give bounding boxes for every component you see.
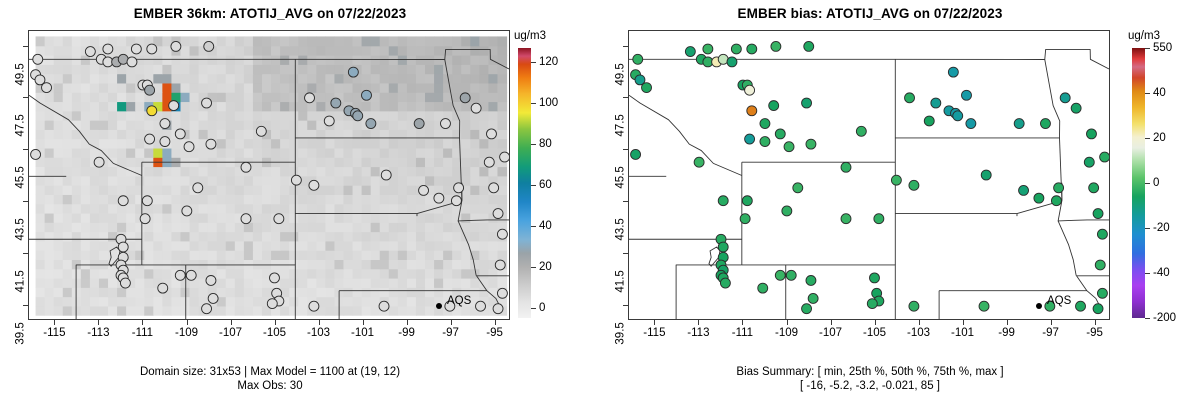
colorbar-tick: [1145, 138, 1150, 139]
colorbar-tick: [531, 62, 536, 63]
observation-marker[interactable]: [742, 196, 752, 206]
colorbar-tick: [1145, 228, 1150, 229]
observation-marker[interactable]: [747, 106, 757, 116]
observation-marker[interactable]: [869, 273, 879, 283]
observation-marker[interactable]: [966, 119, 976, 129]
observation-marker[interactable]: [160, 137, 170, 147]
colorbar-unit-label: ug/m3: [1128, 30, 1160, 42]
observation-marker[interactable]: [841, 162, 851, 172]
x-tick: [54, 320, 55, 325]
x-tick: [787, 320, 788, 325]
observation-marker[interactable]: [31, 149, 41, 159]
observation-marker[interactable]: [1095, 260, 1105, 270]
x-tick-label: -109: [175, 327, 198, 339]
colorbar-tick: [531, 267, 536, 268]
observation-marker[interactable]: [145, 85, 155, 95]
colorbar-tick-label: -20: [1153, 222, 1170, 234]
colorbar-tick-label: 20: [539, 261, 552, 273]
observation-marker[interactable]: [909, 301, 919, 311]
observation-marker[interactable]: [1084, 157, 1094, 167]
colorbar-tick-label: 40: [1153, 87, 1166, 99]
observation-marker[interactable]: [1051, 196, 1061, 206]
y-tick: [23, 253, 28, 254]
observation-marker[interactable]: [633, 54, 643, 64]
aqs-legend-dot: [1036, 303, 1042, 309]
observation-marker[interactable]: [493, 209, 503, 219]
x-tick-label: -103: [307, 327, 330, 339]
observation-marker[interactable]: [353, 111, 363, 121]
colorbar-tick-label: 120: [539, 56, 558, 68]
x-tick: [407, 320, 408, 325]
state-borders: [629, 49, 1109, 319]
observation-marker[interactable]: [1089, 183, 1099, 193]
colorbar-tick-label: -40: [1153, 267, 1170, 279]
x-tick-label: -101: [951, 327, 974, 339]
observation-marker[interactable]: [497, 288, 507, 298]
colorbar-tick: [531, 185, 536, 186]
y-tick-label: 47.5: [614, 114, 626, 136]
map-frame-bias: AQS: [628, 30, 1110, 320]
y-tick: [23, 97, 28, 98]
colorbar-tick: [531, 308, 536, 309]
observation-marker[interactable]: [495, 260, 505, 270]
observation-marker[interactable]: [1100, 152, 1109, 162]
observation-marker[interactable]: [241, 214, 251, 224]
y-tick: [623, 46, 628, 47]
observation-marker[interactable]: [184, 142, 194, 152]
observation-marker[interactable]: [434, 193, 444, 203]
observation-marker[interactable]: [274, 214, 284, 224]
panel-bias: EMBER bias: ATOTIJ_AVG on 07/22/2023AQS-…: [600, 0, 1200, 409]
x-tick: [451, 320, 452, 325]
observation-marker[interactable]: [147, 106, 157, 116]
colorbar-tick-label: 80: [539, 138, 552, 150]
caption-line-1-bias: Bias Summary: [ min, 25th %, 50th %, 75t…: [600, 365, 1140, 379]
observation-marker[interactable]: [745, 134, 755, 144]
observation-marker[interactable]: [118, 196, 128, 206]
observation-marker[interactable]: [362, 90, 372, 100]
observation-marker[interactable]: [1093, 209, 1103, 219]
y-tick: [23, 201, 28, 202]
observation-markers[interactable]: [631, 41, 1109, 313]
observation-marker[interactable]: [120, 278, 130, 288]
x-tick: [231, 320, 232, 325]
observation-marker[interactable]: [476, 301, 486, 311]
x-tick-label: -111: [732, 327, 753, 339]
x-tick: [98, 320, 99, 325]
y-tick-label: 43.5: [614, 218, 626, 240]
observation-marker[interactable]: [891, 175, 901, 185]
x-tick: [1051, 320, 1052, 325]
x-tick: [275, 320, 276, 325]
colorbar-tick: [1145, 318, 1150, 319]
observation-marker[interactable]: [747, 44, 757, 54]
x-tick-label: -111: [132, 327, 153, 339]
x-tick: [1095, 320, 1096, 325]
observation-marker[interactable]: [874, 214, 884, 224]
colorbar-tick-label: 20: [1153, 132, 1166, 144]
observation-marker[interactable]: [202, 304, 212, 314]
observation-marker[interactable]: [808, 293, 818, 303]
observation-marker[interactable]: [500, 152, 509, 162]
observation-marker[interactable]: [1019, 185, 1029, 195]
observation-marker[interactable]: [305, 93, 315, 103]
observation-marker[interactable]: [118, 242, 128, 252]
colorbar-tick: [1145, 183, 1150, 184]
colorbar-bias: ug/m3-200-40-2002040550: [1128, 30, 1200, 330]
x-tick: [319, 320, 320, 325]
observation-marker[interactable]: [1076, 301, 1086, 311]
x-tick-label: -101: [351, 327, 374, 339]
observation-marker[interactable]: [1054, 183, 1064, 193]
observation-marker[interactable]: [269, 273, 279, 283]
map-canvas-bias: [629, 31, 1109, 319]
y-tick-label: 49.5: [614, 63, 626, 85]
y-axis-bias: 39.541.543.545.547.549.5: [600, 30, 628, 320]
panel-title-model: EMBER 36km: ATOTIJ_AVG on 07/22/2023: [0, 6, 540, 22]
observation-marker[interactable]: [379, 301, 389, 311]
y-tick: [623, 201, 628, 202]
observation-marker[interactable]: [867, 299, 877, 309]
observation-marker[interactable]: [769, 101, 779, 111]
observation-marker[interactable]: [856, 126, 866, 136]
observation-marker[interactable]: [731, 44, 741, 54]
x-tick-label: -107: [819, 327, 842, 339]
observation-marker[interactable]: [1097, 288, 1107, 298]
observation-marker[interactable]: [489, 183, 499, 193]
colorbar-tick-label: 0: [539, 302, 545, 314]
colorbar-tick: [1145, 93, 1150, 94]
observation-marker[interactable]: [775, 270, 785, 280]
x-tick-label: -103: [907, 327, 930, 339]
observation-marker[interactable]: [642, 83, 652, 93]
observation-marker[interactable]: [493, 304, 503, 314]
caption-line-2-bias: [ -16, -5.2, -3.2, -0.021, 85 ]: [600, 379, 1140, 393]
observation-marker[interactable]: [497, 229, 507, 239]
observation-marker[interactable]: [127, 57, 137, 67]
observation-marker[interactable]: [267, 299, 277, 309]
colorbar-tick-label: 40: [539, 220, 552, 232]
observation-marker[interactable]: [953, 111, 963, 121]
observation-marker[interactable]: [806, 276, 816, 286]
observation-marker[interactable]: [331, 98, 341, 108]
colorbar-model: ug/m3020406080100120: [514, 30, 600, 330]
panel-title-bias: EMBER bias: ATOTIJ_AVG on 07/22/2023: [600, 6, 1140, 22]
observation-marker[interactable]: [718, 196, 728, 206]
observation-marker[interactable]: [33, 54, 43, 64]
observation-marker[interactable]: [979, 301, 989, 311]
observation-marker[interactable]: [175, 129, 185, 139]
map-canvas-model: [29, 31, 509, 319]
observation-marker[interactable]: [802, 98, 812, 108]
x-tick-label: -109: [775, 327, 798, 339]
observation-marker[interactable]: [202, 98, 212, 108]
observation-marker[interactable]: [786, 270, 796, 280]
x-tick: [495, 320, 496, 325]
observation-marker[interactable]: [484, 157, 494, 167]
observation-marker[interactable]: [806, 139, 816, 149]
x-tick-label: -115: [643, 327, 665, 339]
observation-marker[interactable]: [718, 242, 728, 252]
y-tick: [23, 46, 28, 47]
x-tick-label: -115: [43, 327, 65, 339]
observation-marker[interactable]: [924, 116, 934, 126]
observation-marker[interactable]: [131, 44, 141, 54]
observation-marker[interactable]: [802, 304, 812, 314]
observation-marker[interactable]: [454, 183, 464, 193]
x-tick: [698, 320, 699, 325]
colorbar-tick: [531, 226, 536, 227]
observation-marker[interactable]: [775, 129, 785, 139]
x-tick-label: -107: [219, 327, 242, 339]
observation-marker[interactable]: [381, 170, 391, 180]
colorbar-unit-label: ug/m3: [514, 30, 546, 42]
x-tick: [919, 320, 920, 325]
observation-marker[interactable]: [1014, 119, 1024, 129]
observation-marker[interactable]: [147, 44, 157, 54]
observation-marker[interactable]: [631, 149, 641, 159]
observation-marker[interactable]: [140, 214, 150, 224]
observation-marker[interactable]: [414, 119, 424, 129]
x-tick: [142, 320, 143, 325]
x-tick-label: -97: [442, 327, 459, 339]
y-tick-label: 41.5: [614, 270, 626, 292]
y-tick: [623, 305, 628, 306]
colorbar-tick: [531, 103, 536, 104]
observation-marker[interactable]: [94, 157, 104, 167]
caption-line-2-model: Max Obs: 30: [0, 379, 540, 393]
observation-marker[interactable]: [905, 93, 915, 103]
observation-marker[interactable]: [175, 270, 185, 280]
observation-marker[interactable]: [727, 57, 737, 67]
observation-marker[interactable]: [309, 301, 319, 311]
observation-marker[interactable]: [256, 126, 266, 136]
x-tick-label: -105: [863, 327, 886, 339]
y-tick-label: 47.5: [14, 114, 26, 136]
observation-marker[interactable]: [784, 142, 794, 152]
observation-marker[interactable]: [419, 185, 429, 195]
observation-marker[interactable]: [291, 175, 301, 185]
observation-marker[interactable]: [1093, 304, 1103, 314]
observation-marker[interactable]: [324, 116, 334, 126]
y-tick: [623, 253, 628, 254]
observation-marker[interactable]: [1071, 103, 1081, 113]
y-tick: [623, 149, 628, 150]
observation-marker[interactable]: [685, 47, 695, 57]
y-tick: [623, 97, 628, 98]
observation-marker[interactable]: [760, 137, 770, 147]
observation-marker[interactable]: [1097, 229, 1107, 239]
observation-marker[interactable]: [962, 90, 972, 100]
x-tick-label: -113: [87, 327, 109, 339]
observation-marker[interactable]: [740, 214, 750, 224]
panel-model: EMBER 36km: ATOTIJ_AVG on 07/22/2023AQS-…: [0, 0, 600, 409]
observation-marker[interactable]: [931, 98, 941, 108]
observation-marker[interactable]: [720, 278, 730, 288]
x-tick: [742, 320, 743, 325]
observation-marker[interactable]: [1086, 129, 1096, 139]
x-tick: [1007, 320, 1008, 325]
observation-marker[interactable]: [169, 101, 179, 111]
observation-marker[interactable]: [804, 41, 814, 51]
map-frame-model: AQS: [28, 30, 510, 320]
observation-marker[interactable]: [85, 47, 95, 57]
y-tick-label: 45.5: [614, 166, 626, 188]
observation-marker[interactable]: [841, 214, 851, 224]
x-axis-model: -115-113-111-109-107-105-103-101-99-97-9…: [28, 320, 510, 350]
observation-marker[interactable]: [42, 83, 52, 93]
observation-marker[interactable]: [186, 270, 196, 280]
observation-marker[interactable]: [366, 119, 376, 129]
observation-marker[interactable]: [760, 119, 770, 129]
observation-marker[interactable]: [440, 119, 450, 129]
x-tick-label: -95: [486, 327, 503, 339]
observation-marker[interactable]: [758, 283, 768, 293]
colorbar-tick: [1145, 48, 1150, 49]
y-tick-label: 49.5: [14, 63, 26, 85]
x-tick-label: -113: [687, 327, 709, 339]
colorbar-tick-label: 100: [539, 97, 558, 109]
colorbar-tick-label: -200: [1153, 312, 1176, 324]
observation-marker[interactable]: [309, 180, 319, 190]
y-tick-label: 45.5: [14, 166, 26, 188]
observation-marker[interactable]: [782, 206, 792, 216]
y-tick-label: 41.5: [14, 270, 26, 292]
observation-marker[interactable]: [208, 293, 218, 303]
aqs-legend-label: AQS: [447, 295, 471, 307]
observation-marker[interactable]: [471, 103, 481, 113]
x-tick-label: -99: [998, 327, 1015, 339]
x-tick-label: -105: [263, 327, 286, 339]
colorbar-tick-label: 60: [539, 179, 552, 191]
colorbar-tick-label: 0: [1153, 177, 1159, 189]
figure-root: EMBER 36km: ATOTIJ_AVG on 07/22/2023AQS-…: [0, 0, 1200, 409]
colorbar-tick: [1145, 273, 1150, 274]
x-tick: [654, 320, 655, 325]
colorbar-tick-label: 550: [1153, 42, 1172, 54]
observation-marker[interactable]: [348, 67, 358, 77]
y-tick-label: 39.5: [14, 322, 26, 344]
observation-marker[interactable]: [703, 44, 713, 54]
observation-marker[interactable]: [1060, 93, 1070, 103]
observation-marker[interactable]: [142, 196, 152, 206]
observation-marker[interactable]: [193, 183, 203, 193]
x-tick-label: -99: [398, 327, 415, 339]
x-tick: [187, 320, 188, 325]
y-tick: [23, 149, 28, 150]
y-axis-model: 39.541.543.545.547.549.5: [0, 30, 28, 320]
observation-marker[interactable]: [745, 85, 755, 95]
observation-marker[interactable]: [948, 67, 958, 77]
observation-marker[interactable]: [158, 283, 168, 293]
caption-line-1-model: Domain size: 31x53 | Max Model = 1100 at…: [0, 365, 540, 379]
observation-marker[interactable]: [1040, 119, 1050, 129]
observation-marker[interactable]: [451, 196, 461, 206]
observation-marker[interactable]: [160, 119, 170, 129]
y-tick-label: 39.5: [614, 322, 626, 344]
observation-marker[interactable]: [1034, 193, 1044, 203]
x-tick: [963, 320, 964, 325]
observation-marker[interactable]: [793, 183, 803, 193]
x-tick: [875, 320, 876, 325]
observation-marker[interactable]: [103, 44, 113, 54]
x-tick: [831, 320, 832, 325]
colorbar-tick: [531, 144, 536, 145]
observation-marker[interactable]: [771, 41, 781, 51]
observation-marker[interactable]: [206, 276, 216, 286]
aqs-legend-label: AQS: [1047, 295, 1071, 307]
aqs-legend-dot: [436, 303, 442, 309]
observation-marker[interactable]: [694, 157, 704, 167]
y-tick: [23, 305, 28, 306]
colorbar-gradient: [1132, 48, 1145, 318]
colorbar-gradient: [518, 48, 531, 318]
observation-marker[interactable]: [909, 180, 919, 190]
y-tick-label: 43.5: [14, 218, 26, 240]
observation-marker[interactable]: [182, 206, 192, 216]
observation-marker[interactable]: [171, 41, 181, 51]
observation-marker[interactable]: [981, 170, 991, 180]
x-tick-label: -97: [1042, 327, 1059, 339]
observation-marker[interactable]: [145, 134, 155, 144]
observation-marker[interactable]: [460, 93, 470, 103]
x-tick-label: -95: [1086, 327, 1103, 339]
observation-marker[interactable]: [206, 139, 216, 149]
x-tick: [363, 320, 364, 325]
x-axis-bias: -115-113-111-109-107-105-103-101-99-97-9…: [628, 320, 1110, 350]
observation-marker[interactable]: [241, 162, 251, 172]
observation-marker[interactable]: [486, 129, 496, 139]
observation-marker[interactable]: [204, 41, 214, 51]
